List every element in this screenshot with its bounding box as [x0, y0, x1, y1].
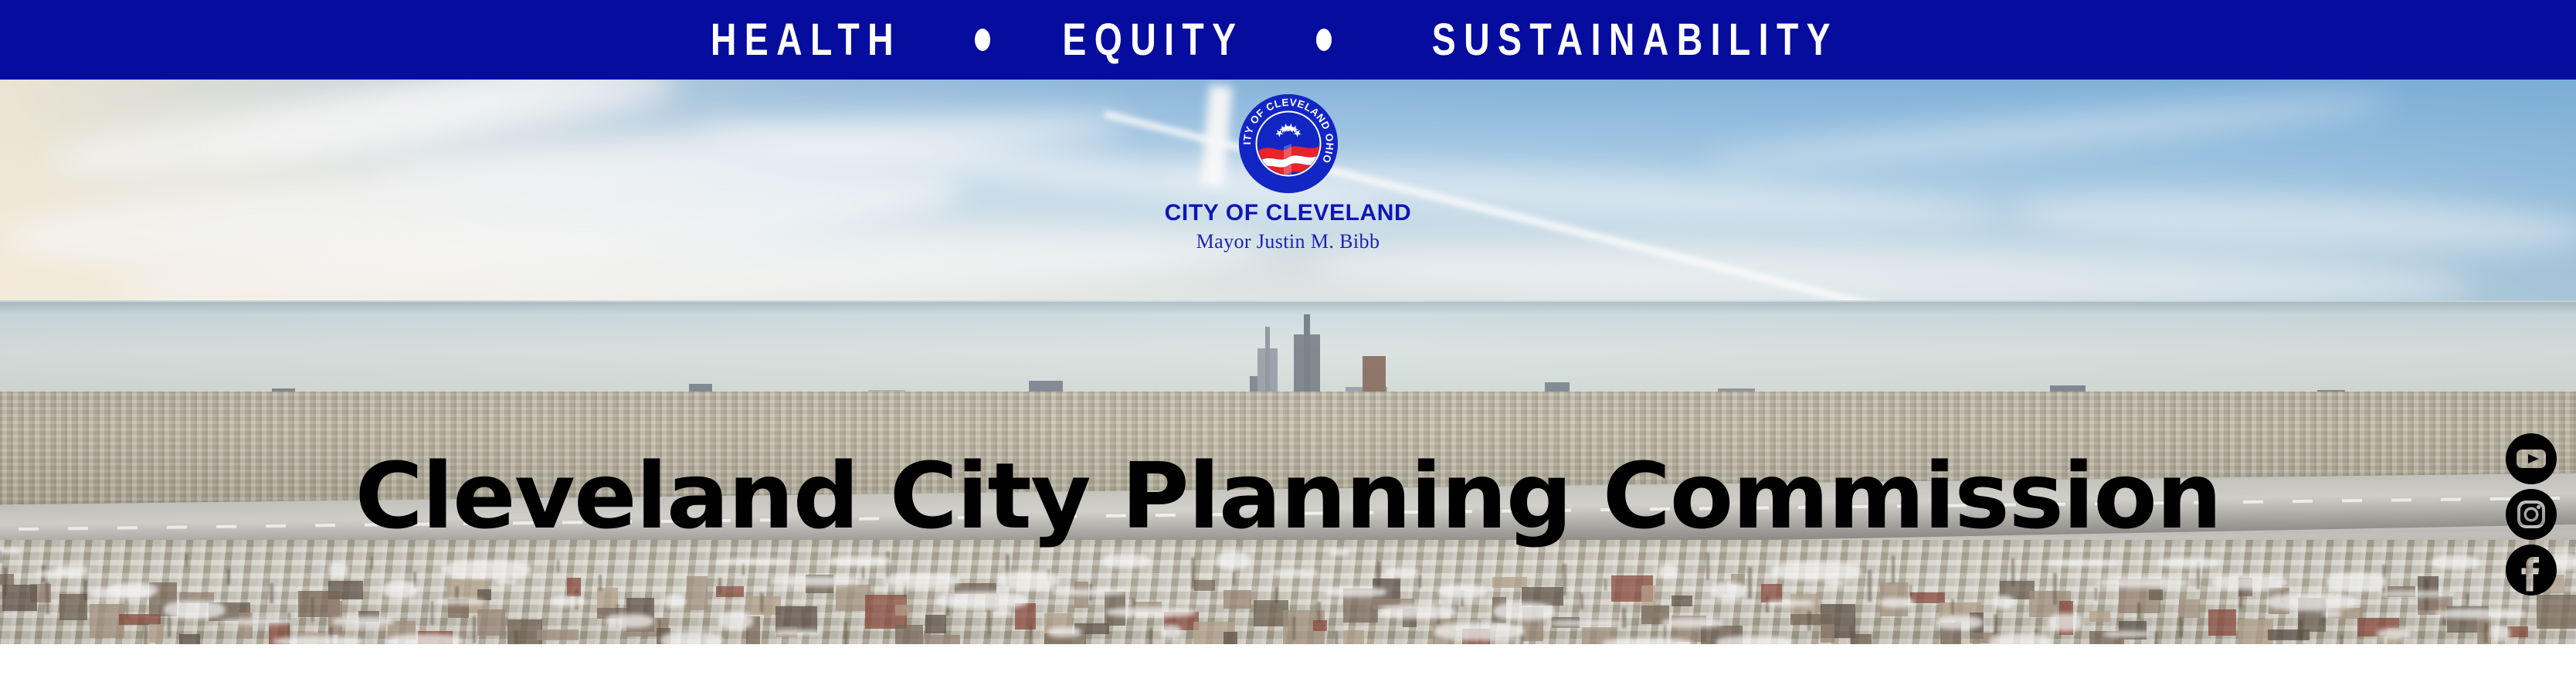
bare-tree [557, 560, 559, 572]
bare-tree [844, 622, 847, 644]
house [477, 609, 505, 636]
snow-patch [993, 609, 1013, 616]
house [1492, 577, 1527, 588]
bare-tree [2137, 602, 2140, 619]
snow-patch [2322, 611, 2342, 617]
house [2, 585, 37, 611]
snow-patch [1603, 638, 1692, 644]
snow-patch [442, 561, 531, 579]
page-root: HEALTH EQUITY SUSTAINABILITY [0, 0, 2576, 682]
bare-tree [144, 624, 148, 644]
snow-patch [1935, 616, 1983, 629]
city-logo-name: CITY OF CLEVELAND [1018, 202, 1559, 225]
tagline-word-sustainability: SUSTAINABILITY [1432, 18, 1838, 63]
snow-patch [1106, 607, 1196, 617]
snow-patch [997, 572, 1059, 589]
bare-tree [1622, 608, 1626, 628]
snow-patch [1493, 602, 1555, 620]
snow-patch [1825, 580, 1845, 586]
bare-tree [1293, 616, 1295, 640]
bare-tree [2340, 635, 2343, 644]
bare-tree [1892, 555, 1895, 583]
house [2089, 611, 2110, 622]
snow-patch [1767, 600, 1814, 606]
bare-tree [988, 610, 990, 634]
snow-patch [387, 634, 463, 644]
snow-patch [35, 571, 83, 577]
bare-tree [1706, 552, 1709, 580]
tagline-word-equity: EQUITY [1062, 18, 1244, 63]
bare-tree [46, 582, 49, 614]
snow-patch [2381, 591, 2456, 597]
bare-tree [1233, 572, 1235, 585]
house [1224, 590, 1251, 609]
city-seal-icon: CITY OF CLEVELAND OHIO [1237, 93, 1339, 195]
house [1821, 624, 1834, 643]
snow-patch [2432, 555, 2479, 569]
snow-patch [2099, 578, 2188, 588]
snow-patch [1994, 595, 2014, 609]
snow-patch [884, 574, 959, 588]
bare-tree [1604, 579, 1607, 591]
bare-tree [287, 612, 290, 640]
instagram-icon[interactable] [2505, 488, 2557, 541]
snow-patch [719, 612, 753, 629]
house [239, 612, 253, 639]
snow-patch [770, 576, 860, 586]
house [1910, 592, 1945, 603]
bare-tree [1563, 564, 1566, 595]
snow-patch [1716, 636, 1792, 644]
bare-tree [2155, 632, 2157, 644]
snow-patch [1880, 598, 1914, 608]
bare-tree [1807, 611, 1811, 631]
house [2149, 589, 2163, 600]
bare-tree [760, 592, 764, 612]
bare-tree [185, 554, 188, 566]
house [1343, 630, 1364, 644]
snow-patch [2045, 560, 2120, 566]
tagline-word-health: HEALTH [711, 18, 901, 63]
bare-tree [1335, 631, 1338, 644]
bare-tree [1030, 625, 1033, 644]
bare-tree [1994, 614, 1997, 634]
bare-tree [2299, 620, 2303, 640]
snow-patch [2158, 558, 2220, 568]
house [537, 629, 579, 640]
snow-patch [2212, 575, 2288, 589]
bare-tree [2466, 594, 2469, 606]
snow-patch [219, 619, 294, 625]
snow-patch [1271, 569, 1319, 575]
snow-patch [1325, 587, 1386, 597]
snow-patch [1771, 562, 1861, 580]
bare-tree [4, 568, 7, 595]
snow-patch [328, 563, 348, 577]
house [2507, 626, 2528, 637]
snow-patch [715, 558, 791, 565]
bare-tree [599, 575, 602, 591]
house [477, 589, 491, 600]
bare-tree [371, 557, 373, 569]
snow-patch [437, 599, 485, 605]
snow-patch [1661, 618, 1723, 628]
tagline-banner: HEALTH EQUITY SUSTAINABILITY [0, 0, 2576, 80]
snow-patch [938, 592, 1027, 609]
dot-separator-icon [975, 29, 990, 51]
dot-separator-icon [1316, 29, 1332, 51]
bare-tree [1951, 599, 1954, 616]
bare-tree [718, 578, 721, 594]
snow-patch [1438, 585, 1486, 599]
snow-patch [273, 636, 363, 644]
bare-tree [1580, 593, 1583, 609]
snow-patch [1380, 605, 1455, 619]
bare-tree [227, 568, 230, 585]
bottom-white-strip [0, 644, 2576, 682]
bare-tree [1419, 575, 1421, 588]
bare-tree [2095, 588, 2097, 600]
house [0, 574, 14, 585]
snow-patch [1658, 565, 1678, 579]
bare-tree [1275, 587, 1278, 603]
house [2537, 595, 2576, 629]
snow-patch [1548, 620, 1624, 626]
house [179, 634, 200, 644]
snow-patch [2435, 609, 2525, 619]
snow-patch [1712, 582, 1746, 600]
bare-tree [1850, 626, 1852, 644]
bare-tree [1748, 567, 1752, 599]
snow-patch [0, 548, 20, 554]
city-logo-mayor: Mayor Justin M. Bibb [1018, 232, 1559, 252]
house [1313, 620, 1327, 631]
bare-tree [431, 601, 433, 625]
social-links [2505, 433, 2557, 596]
house [149, 624, 163, 643]
snow-patch [774, 629, 822, 636]
snow-patch [660, 632, 722, 644]
house [925, 635, 960, 644]
bare-tree [862, 566, 864, 579]
page-title: Cleveland City Planning Commission [0, 450, 2576, 541]
house [925, 615, 946, 633]
snow-patch [1990, 633, 2052, 644]
bare-tree [83, 580, 87, 600]
bare-tree [2011, 558, 2014, 586]
bare-tree [1317, 602, 1321, 622]
house [895, 605, 909, 616]
snow-patch [1329, 549, 1349, 555]
bare-tree [802, 607, 804, 631]
house [1224, 632, 1237, 644]
snow-patch [664, 594, 684, 608]
house [895, 625, 923, 644]
snow-patch [829, 556, 891, 566]
bare-tree [1149, 628, 1152, 644]
snow-patch [1384, 567, 1418, 577]
bare-tree [1868, 570, 1872, 602]
house [687, 576, 708, 610]
snow-patch [2267, 593, 2357, 611]
bare-tree [2053, 573, 2057, 605]
house [1672, 595, 1692, 606]
bare-tree [2484, 623, 2488, 643]
bare-tree [473, 616, 476, 643]
snow-patch [2377, 629, 2411, 639]
bare-tree [514, 630, 518, 644]
snow-patch [2103, 631, 2151, 637]
snow-patch [2326, 573, 2388, 591]
house [1851, 634, 1872, 644]
house [2208, 609, 2236, 636]
snow-patch [1434, 623, 1524, 640]
snow-patch [1051, 589, 1127, 595]
snow-patch [551, 596, 585, 606]
snow-patch [1161, 625, 1181, 639]
bare-tree [311, 598, 314, 622]
snow-patch [1102, 554, 1150, 568]
bare-tree [270, 583, 273, 603]
house [567, 578, 581, 596]
snow-patch [332, 616, 394, 626]
house [1790, 614, 1832, 625]
city-logo-block[interactable]: CITY OF CLEVELAND OHIO [1018, 93, 1559, 252]
bare-tree [2179, 617, 2183, 637]
bare-tree [742, 563, 745, 575]
youtube-icon[interactable] [2505, 433, 2557, 485]
snow-patch [497, 579, 517, 585]
snow-patch [383, 581, 417, 599]
snow-patch [2048, 613, 2082, 631]
bare-tree [1909, 585, 1912, 597]
snow-patch [90, 589, 151, 599]
snow-patch [164, 601, 226, 619]
snow-patch [606, 614, 653, 628]
bare-tree [1191, 558, 1195, 589]
facebook-icon[interactable] [2505, 544, 2557, 596]
snow-patch [1216, 551, 1250, 569]
house [1194, 580, 1215, 591]
snow-patch [2490, 626, 2510, 640]
tagline-banner-inner: HEALTH EQUITY SUSTAINABILITY [687, 18, 1889, 63]
snow-patch [1047, 627, 1081, 637]
house [2179, 599, 2200, 618]
